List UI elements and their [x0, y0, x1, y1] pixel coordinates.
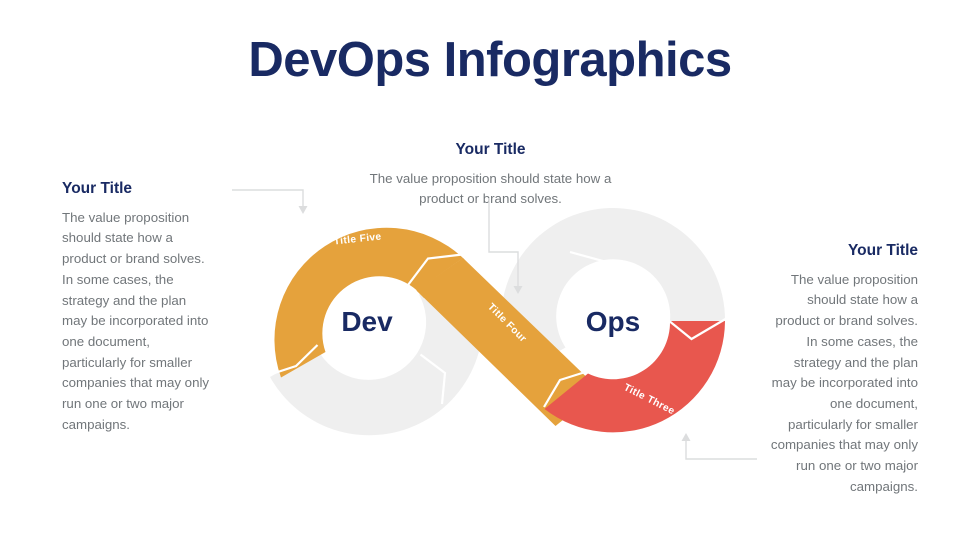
connector-left: [232, 190, 308, 214]
text-block-right-title: Your Title: [768, 242, 918, 261]
text-block-left-body: The value proposition should state how a…: [62, 208, 214, 436]
connector-right-arrow-icon: [682, 433, 691, 441]
text-block-right-body: The value proposition should state how a…: [768, 270, 918, 498]
ring-label-dev: Dev: [341, 306, 393, 337]
ring-label-ops: Ops: [586, 306, 640, 337]
connector-top: [489, 198, 523, 294]
connector-left-line: [232, 190, 303, 206]
text-block-left-title: Your Title: [62, 180, 214, 199]
connector-left-arrow-icon: [299, 206, 308, 214]
connector-right-line: [686, 441, 757, 459]
connector-right: [682, 433, 758, 459]
text-block-top-body: The value proposition should state how a…: [352, 169, 629, 209]
text-block-left: Your Title The value proposition should …: [62, 180, 214, 436]
text-block-top-title: Your Title: [352, 141, 629, 160]
text-block-right: Your Title The value proposition should …: [768, 242, 918, 498]
text-block-top: Your Title The value proposition should …: [352, 141, 629, 209]
slide-canvas: DevOps Infographics Your Title The value…: [0, 0, 980, 551]
page-title: DevOps Infographics: [0, 34, 980, 88]
